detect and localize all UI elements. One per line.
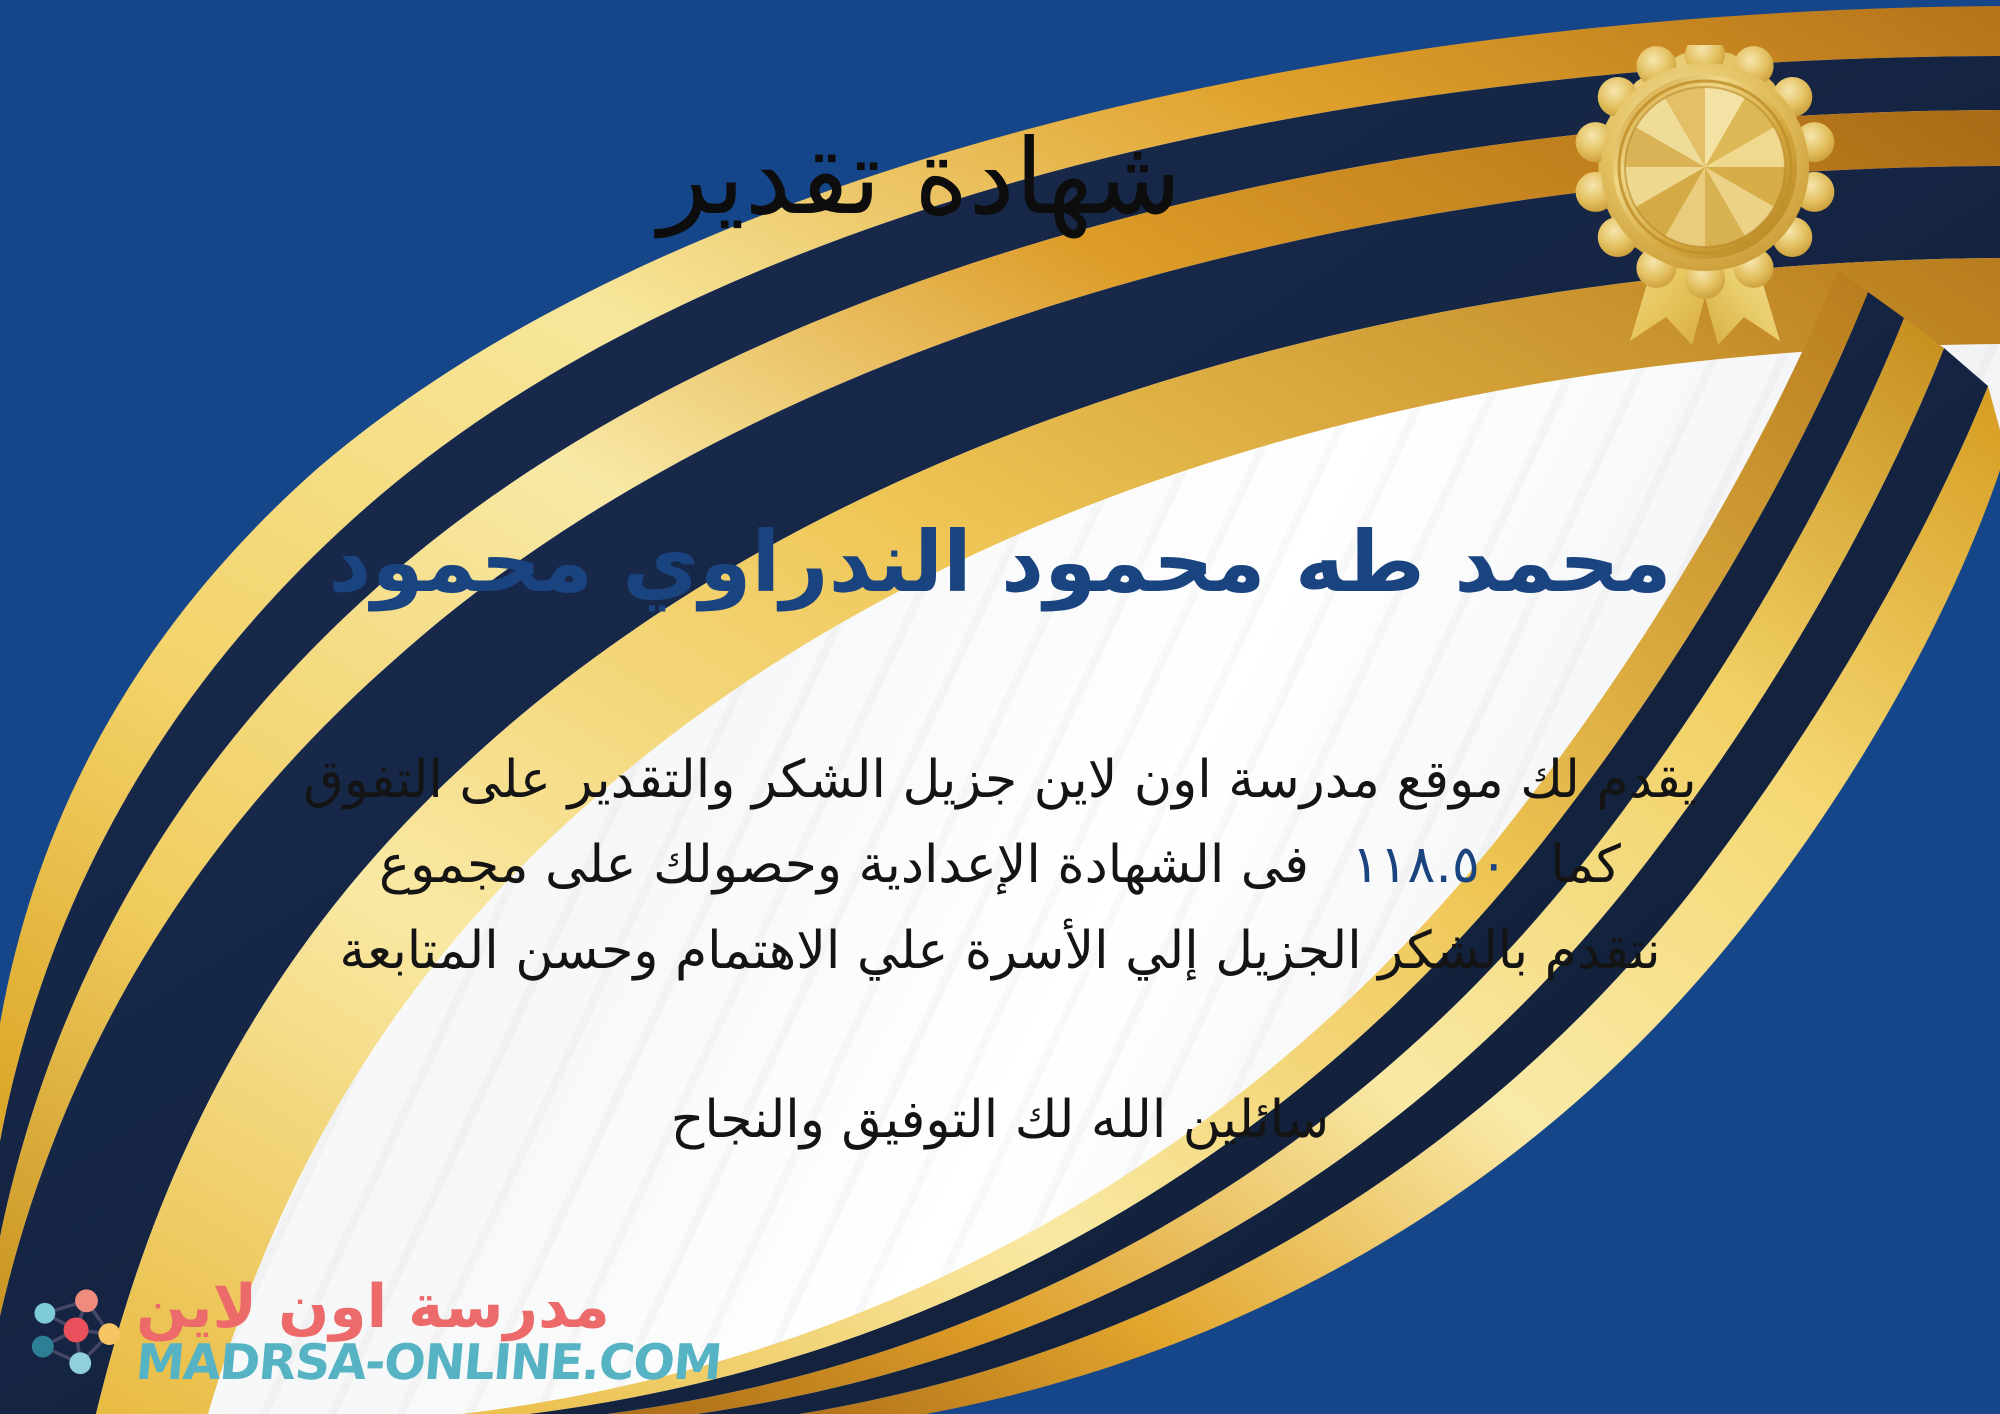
site-logo[interactable]: مدرسة اون لاين MADRSA-ONLINE.COM	[22, 1277, 721, 1388]
gold-medal-rosette-icon	[1560, 45, 1850, 345]
score-line-prefix: فى الشهادة الإعدادية وحصولك على مجموع	[379, 835, 1309, 895]
body-line-score: كما ١١٨.٥٠ فى الشهادة الإعدادية وحصولك ع…	[90, 823, 1910, 908]
body-line-1: يقدم لك موقع مدرسة اون لاين جزيل الشكر و…	[90, 738, 1910, 823]
score-line-suffix: كما	[1550, 835, 1621, 895]
score-value: ١١٨.٥٠	[1326, 835, 1534, 895]
certificate-canvas: شهادة تقدير محمد طه محمود الندراوي محمود…	[0, 0, 2000, 1414]
body-line-3: نتقدم بالشكر الجزيل إلي الأسرة علي الاهت…	[90, 909, 1910, 994]
body-paragraph: يقدم لك موقع مدرسة اون لاين جزيل الشكر و…	[90, 738, 1910, 994]
logo-arabic-text: مدرسة اون لاين	[136, 1277, 610, 1337]
logo-domain-text: MADRSA-ONLINE.COM	[134, 1337, 723, 1388]
network-nodes-icon	[22, 1280, 126, 1384]
student-name: محمد طه محمود الندراوي محمود	[0, 512, 2000, 613]
closing-line: سائلين الله لك التوفيق والنجاح	[0, 1090, 2000, 1150]
